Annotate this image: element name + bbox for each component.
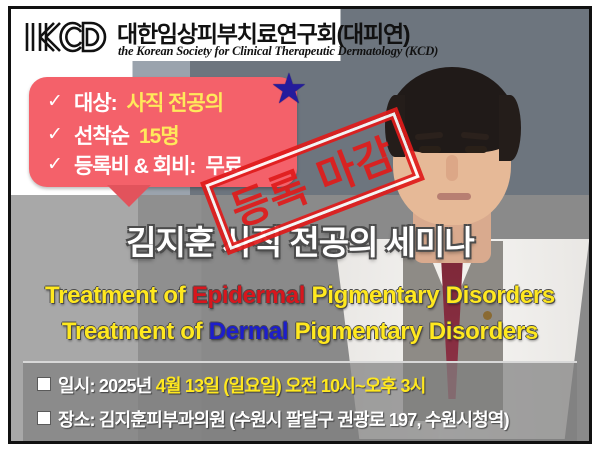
filled-square-bullet-icon <box>37 411 51 425</box>
highlight-row-1: ✓ 대상: 사직 전공의 <box>47 86 291 117</box>
poster-frame: 대한임상피부치료연구회(대피연) the Korean Society for … <box>8 6 592 444</box>
highlight-row-1-value: 사직 전공의 <box>127 87 223 117</box>
highlight-row-2-value: 15명 <box>139 120 179 150</box>
highlight-row-1-prefix: 대상: <box>74 87 117 117</box>
english-subtitle-2: Treatment of Dermal Pigmentary Disorders <box>11 318 589 346</box>
info-date-label: 일시: 2025년 <box>58 376 152 396</box>
info-date-value: 4월 13일 (일요일) 오전 10시~오후 3시 <box>156 376 426 396</box>
eye-right <box>465 146 487 153</box>
check-mark-icon: ✓ <box>47 153 64 176</box>
english-subtitle-1-after: Pigmentary Disorders <box>305 282 555 309</box>
kcd-logo-icon <box>23 17 115 57</box>
highlight-row-3-prefix: 등록비 & 회비: <box>74 150 195 180</box>
filled-square-bullet-icon <box>37 377 51 391</box>
info-place-label: 장소: <box>58 410 95 430</box>
info-panel: 일시: 2025년 4월 13일 (일요일) 오전 10시~오후 3시 장소: … <box>23 361 577 441</box>
organization-subtitle: the Korean Society for Clinical Therapeu… <box>118 44 438 59</box>
english-subtitle-1: Treatment of Epidermal Pigmentary Disord… <box>11 282 589 310</box>
check-mark-icon: ✓ <box>47 123 64 146</box>
star-icon: ★ <box>269 71 309 111</box>
check-mark-icon: ✓ <box>47 90 64 113</box>
hair-side-right <box>499 95 521 161</box>
english-subtitle-2-before: Treatment of <box>62 318 209 345</box>
english-subtitle-1-before: Treatment of <box>45 282 192 309</box>
highlight-box-tail <box>107 185 151 207</box>
nose <box>446 155 458 181</box>
mouth <box>437 193 471 200</box>
info-place-line: 장소: 김지훈피부과의원 (수원시 팔달구 권광로 197, 수원시청역) <box>37 406 509 432</box>
english-subtitle-2-emphasis: Dermal <box>209 318 289 345</box>
info-date-line: 일시: 2025년 4월 13일 (일요일) 오전 10시~오후 3시 <box>37 372 425 398</box>
highlight-row-2-prefix: 선착순 <box>74 120 129 150</box>
highlight-row-2: ✓ 선착순 15명 <box>47 119 291 150</box>
english-subtitle-1-emphasis: Epidermal <box>192 282 305 309</box>
english-subtitle-2-after: Pigmentary Disorders <box>288 318 538 345</box>
eye-left <box>419 146 441 153</box>
info-place-value: 김지훈피부과의원 (수원시 팔달구 권광로 197, 수원시청역) <box>99 410 509 430</box>
seminar-poster: 대한임상피부치료연구회(대피연) the Korean Society for … <box>0 0 600 450</box>
